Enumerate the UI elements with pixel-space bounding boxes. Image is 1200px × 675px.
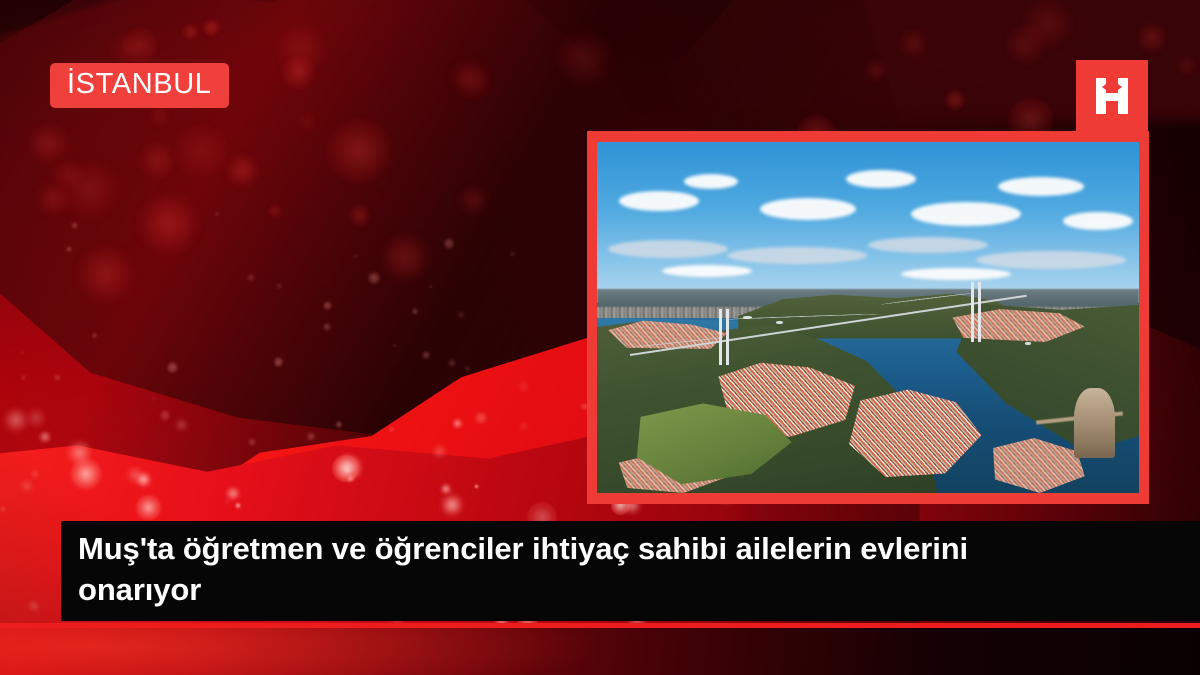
photo-bridge-tower-right — [978, 282, 981, 342]
logo-h-icon — [1090, 74, 1134, 118]
photo-ship — [1025, 342, 1031, 345]
photo-ship — [743, 316, 752, 319]
article-photo — [597, 142, 1139, 493]
news-card: İSTANBUL — [0, 0, 1200, 675]
photo-bridge-tower-left — [719, 309, 722, 365]
photo-cloud — [868, 237, 988, 253]
haberler-logo[interactable] — [1076, 60, 1148, 132]
photo-sky — [597, 142, 1139, 303]
photo-cloud — [662, 265, 752, 277]
photo-cloud — [998, 177, 1084, 196]
photo-rumeli-fortress-tower — [1074, 388, 1115, 458]
photo-cloud — [976, 251, 1126, 269]
bottom-strip — [0, 628, 1200, 675]
photo-bridge-tower-right — [971, 282, 974, 342]
photo-cloud — [619, 191, 699, 211]
article-photo-frame[interactable] — [587, 131, 1149, 504]
headline-text[interactable]: Muş'ta öğretmen ve öğrenciler ihtiyaç sa… — [78, 529, 1058, 611]
city-badge[interactable]: İSTANBUL — [50, 63, 229, 108]
photo-cloud — [911, 202, 1021, 226]
photo-bridge-tower-left — [726, 309, 729, 365]
photo-ship — [776, 321, 783, 324]
photo-cloud — [684, 174, 738, 189]
headline-bar: Muş'ta öğretmen ve öğrenciler ihtiyaç sa… — [61, 521, 1200, 621]
photo-cloud — [760, 198, 856, 220]
